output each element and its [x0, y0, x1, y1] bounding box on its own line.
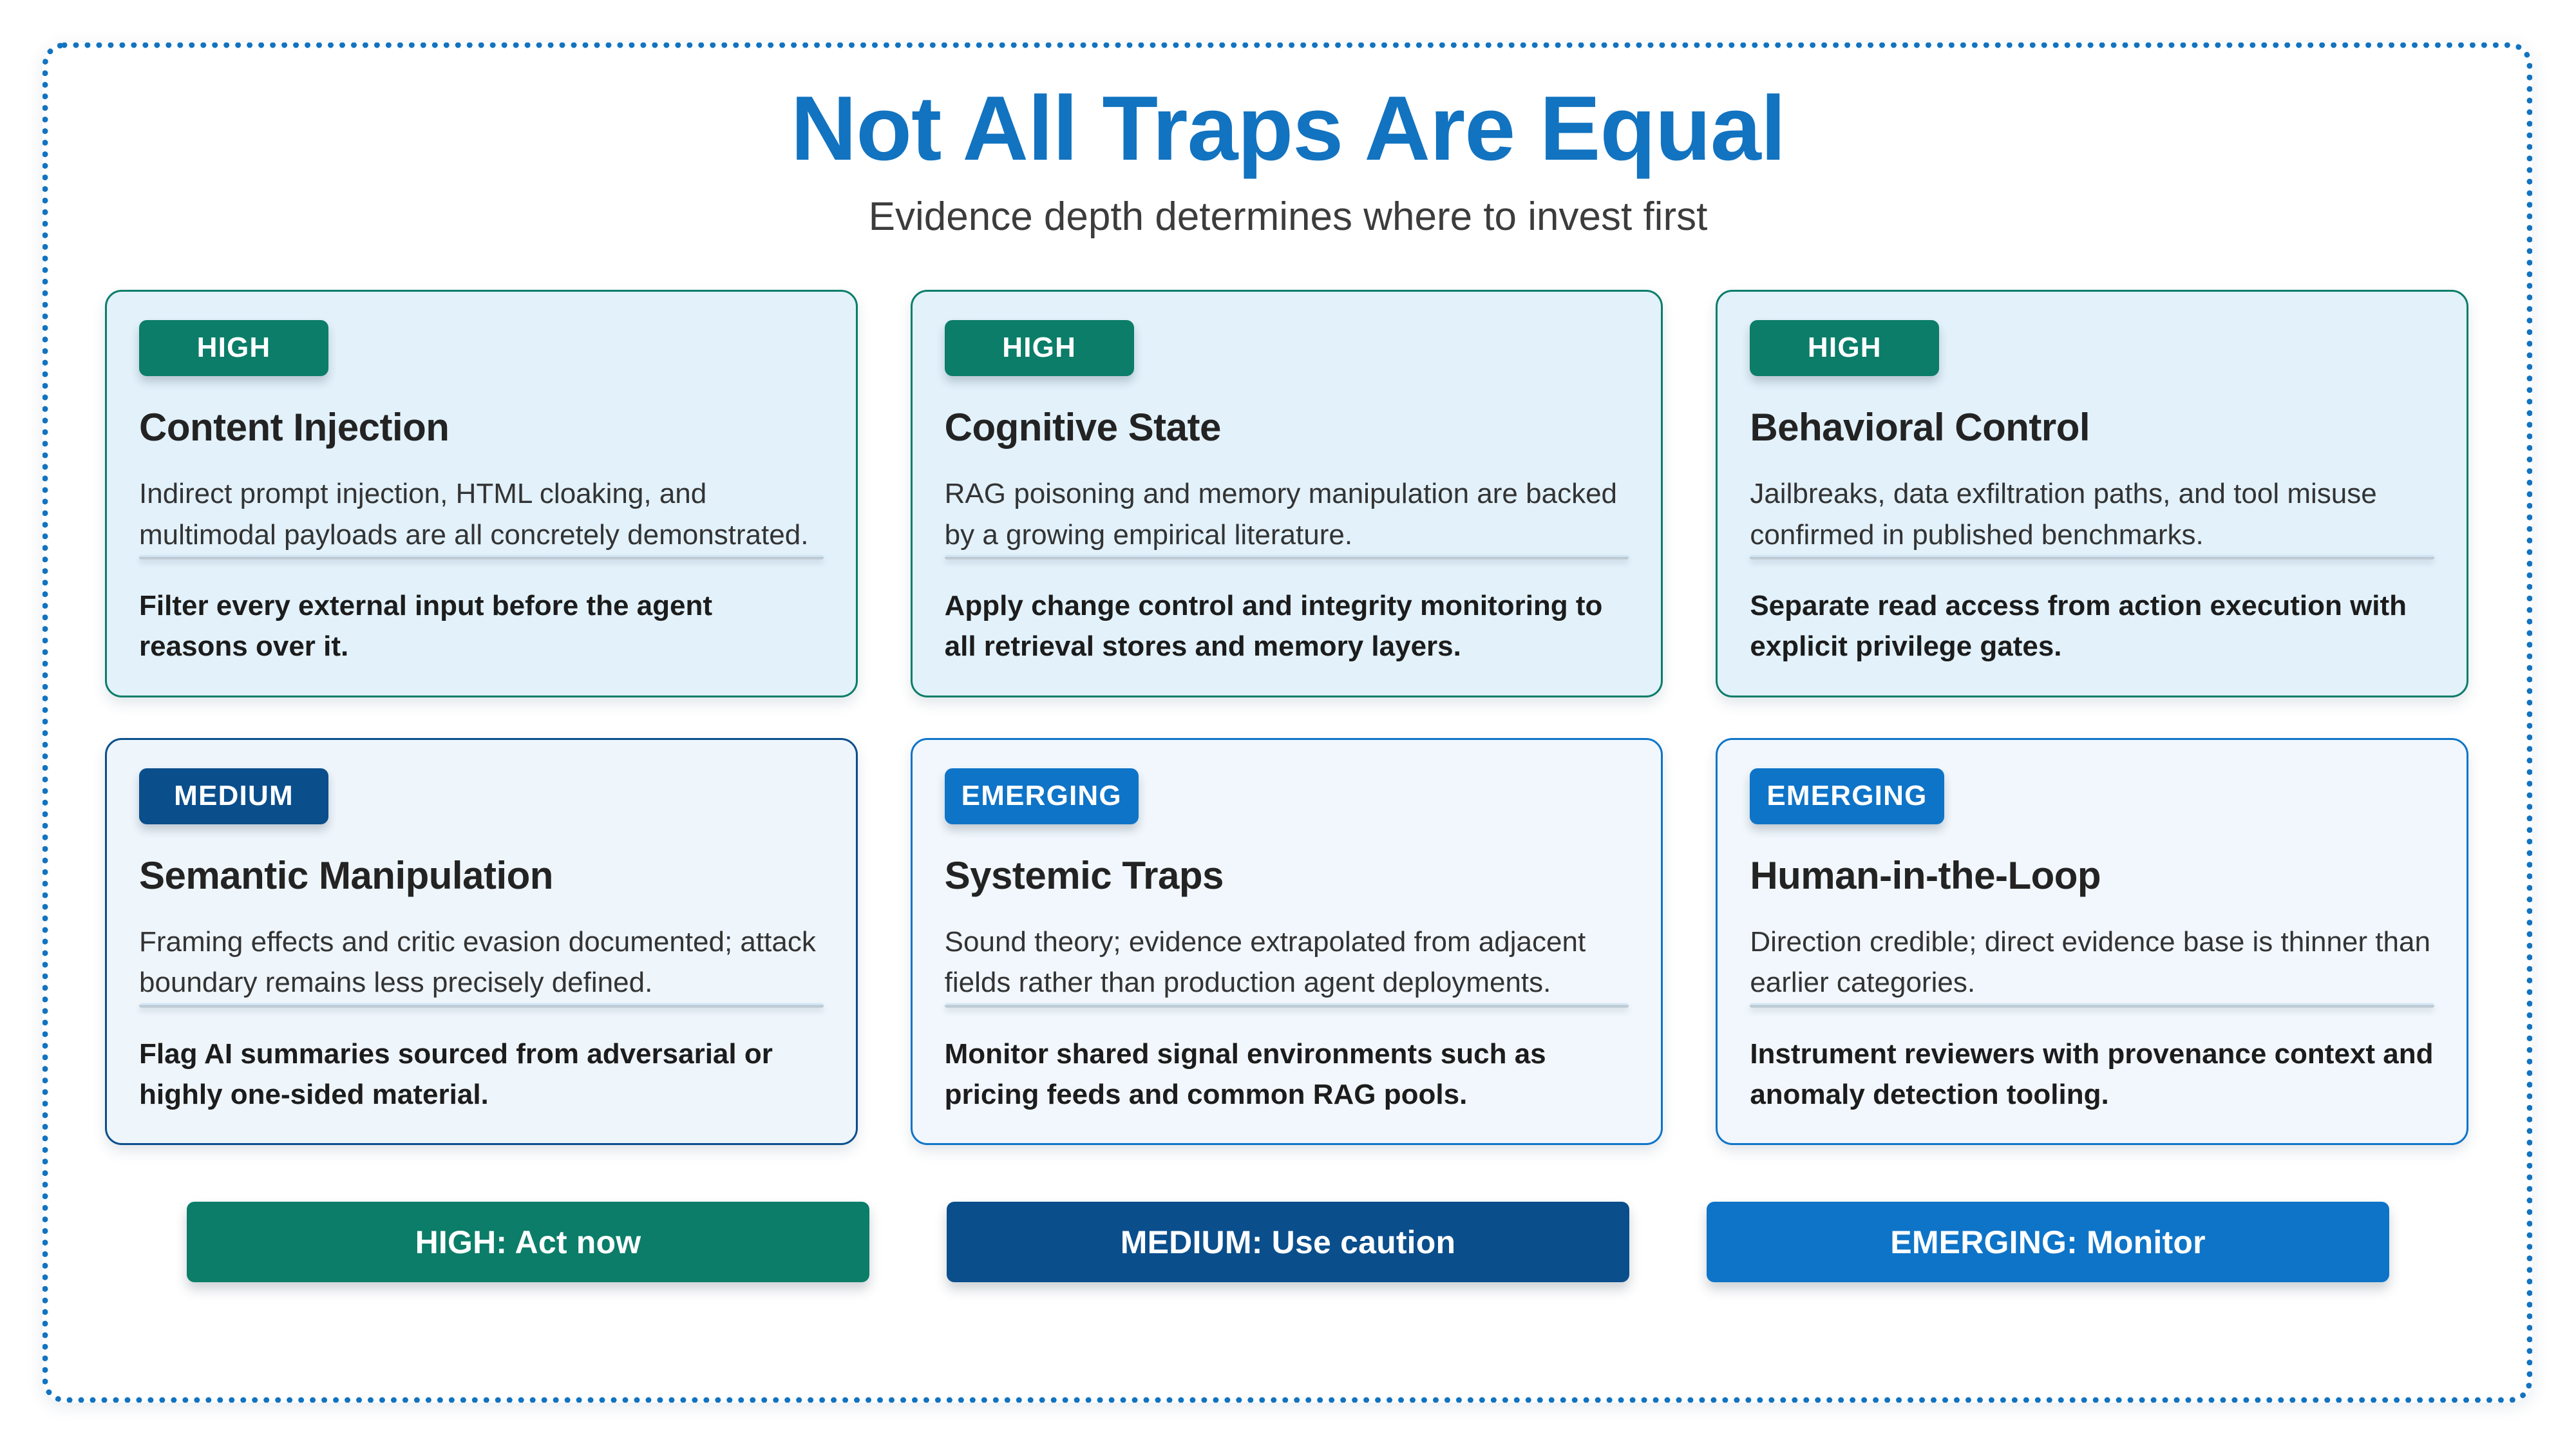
risk-card-grid: HIGH Content Injection Indirect prompt i…: [105, 290, 2468, 1145]
card-divider: [945, 1003, 1629, 1008]
risk-card[interactable]: HIGH Behavioral Control Jailbreaks, data…: [1716, 290, 2468, 697]
risk-card[interactable]: MEDIUM Semantic Manipulation Framing eff…: [105, 738, 858, 1146]
page-title: Not All Traps Are Equal: [0, 80, 2576, 176]
card-action: Instrument reviewers with provenance con…: [1750, 1034, 2434, 1115]
status-badge: EMERGING: [945, 768, 1139, 824]
header: Not All Traps Are Equal Evidence depth d…: [0, 80, 2576, 241]
card-divider: [1750, 1003, 2434, 1008]
status-badge: EMERGING: [1750, 768, 1944, 824]
card-divider: [139, 1003, 824, 1008]
card-description: RAG poisoning and memory manipulation ar…: [945, 473, 1629, 555]
card-title: Semantic Manipulation: [139, 854, 824, 897]
infographic-content: Not All Traps Are Equal Evidence depth d…: [0, 0, 2576, 1449]
risk-card[interactable]: EMERGING Systemic Traps Sound theory; ev…: [911, 738, 1663, 1146]
card-description: Jailbreaks, data exfiltration paths, and…: [1750, 473, 2434, 555]
card-description: Direction credible; direct evidence base…: [1750, 922, 2434, 1003]
card-title: Human-in-the-Loop: [1750, 854, 2434, 897]
card-action: Monitor shared signal environments such …: [945, 1034, 1629, 1115]
card-divider: [945, 555, 1629, 560]
card-title: Systemic Traps: [945, 854, 1629, 897]
legend-item-high[interactable]: HIGH: Act now: [187, 1202, 869, 1282]
page-subtitle: Evidence depth determines where to inves…: [0, 193, 2576, 241]
card-action: Filter every external input before the a…: [139, 585, 824, 667]
risk-card[interactable]: HIGH Cognitive State RAG poisoning and m…: [911, 290, 1663, 697]
status-badge: MEDIUM: [139, 768, 328, 824]
card-action: Flag AI summaries sourced from adversari…: [139, 1034, 824, 1115]
risk-card[interactable]: HIGH Content Injection Indirect prompt i…: [105, 290, 858, 697]
card-divider: [1750, 555, 2434, 560]
legend-item-medium[interactable]: MEDIUM: Use caution: [947, 1202, 1629, 1282]
card-divider: [139, 555, 824, 560]
legend-item-emerging[interactable]: EMERGING: Monitor: [1707, 1202, 2389, 1282]
status-badge: HIGH: [945, 320, 1134, 376]
status-badge: HIGH: [139, 320, 328, 376]
status-badge: HIGH: [1750, 320, 1939, 376]
card-action: Apply change control and integrity monit…: [945, 585, 1629, 667]
legend: HIGH: Act now MEDIUM: Use caution EMERGI…: [187, 1202, 2389, 1282]
card-title: Cognitive State: [945, 406, 1629, 449]
card-description: Framing effects and critic evasion docum…: [139, 922, 824, 1003]
risk-card[interactable]: EMERGING Human-in-the-Loop Direction cre…: [1716, 738, 2468, 1146]
card-description: Sound theory; evidence extrapolated from…: [945, 922, 1629, 1003]
card-action: Separate read access from action executi…: [1750, 585, 2434, 667]
card-title: Behavioral Control: [1750, 406, 2434, 449]
card-title: Content Injection: [139, 406, 824, 449]
infographic-canvas: CEZTON Not All Traps Are Equal Evidence …: [0, 0, 2576, 1449]
card-description: Indirect prompt injection, HTML cloaking…: [139, 473, 824, 555]
